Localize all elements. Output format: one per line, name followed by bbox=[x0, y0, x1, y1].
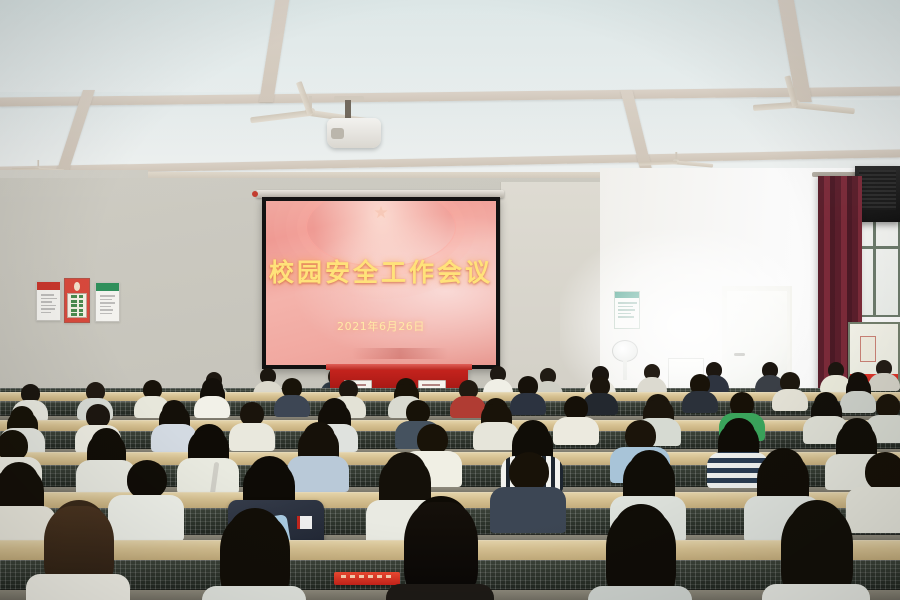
lecture-hall-photo: ★ 校园安全工作会议 2021年6月26日 bbox=[0, 0, 900, 600]
poster-portrait-face bbox=[74, 282, 81, 291]
screen-pull-knob bbox=[252, 191, 258, 197]
door-notice-paper bbox=[860, 336, 876, 362]
wall-poster-center-portrait bbox=[64, 278, 90, 323]
projector-lens bbox=[331, 128, 344, 139]
projection-screen: ★ 校园安全工作会议 2021年6月26日 bbox=[262, 197, 500, 369]
green-notice-sign bbox=[614, 291, 640, 329]
slide-title: 校园安全工作会议 bbox=[266, 253, 496, 289]
wall-poster-right bbox=[95, 282, 120, 322]
projection-screen-surface: ★ 校园安全工作会议 2021年6月26日 bbox=[266, 201, 496, 365]
ceiling-projector bbox=[327, 118, 381, 148]
screen-bottom-logo bbox=[352, 348, 448, 359]
red-snack-box bbox=[334, 572, 400, 585]
door-handle bbox=[734, 353, 745, 356]
star-icon: ★ bbox=[372, 205, 390, 223]
wall-poster-left bbox=[36, 281, 61, 321]
projector-mount-pole bbox=[345, 100, 351, 120]
slide-date: 2021年6月26日 bbox=[266, 318, 496, 334]
